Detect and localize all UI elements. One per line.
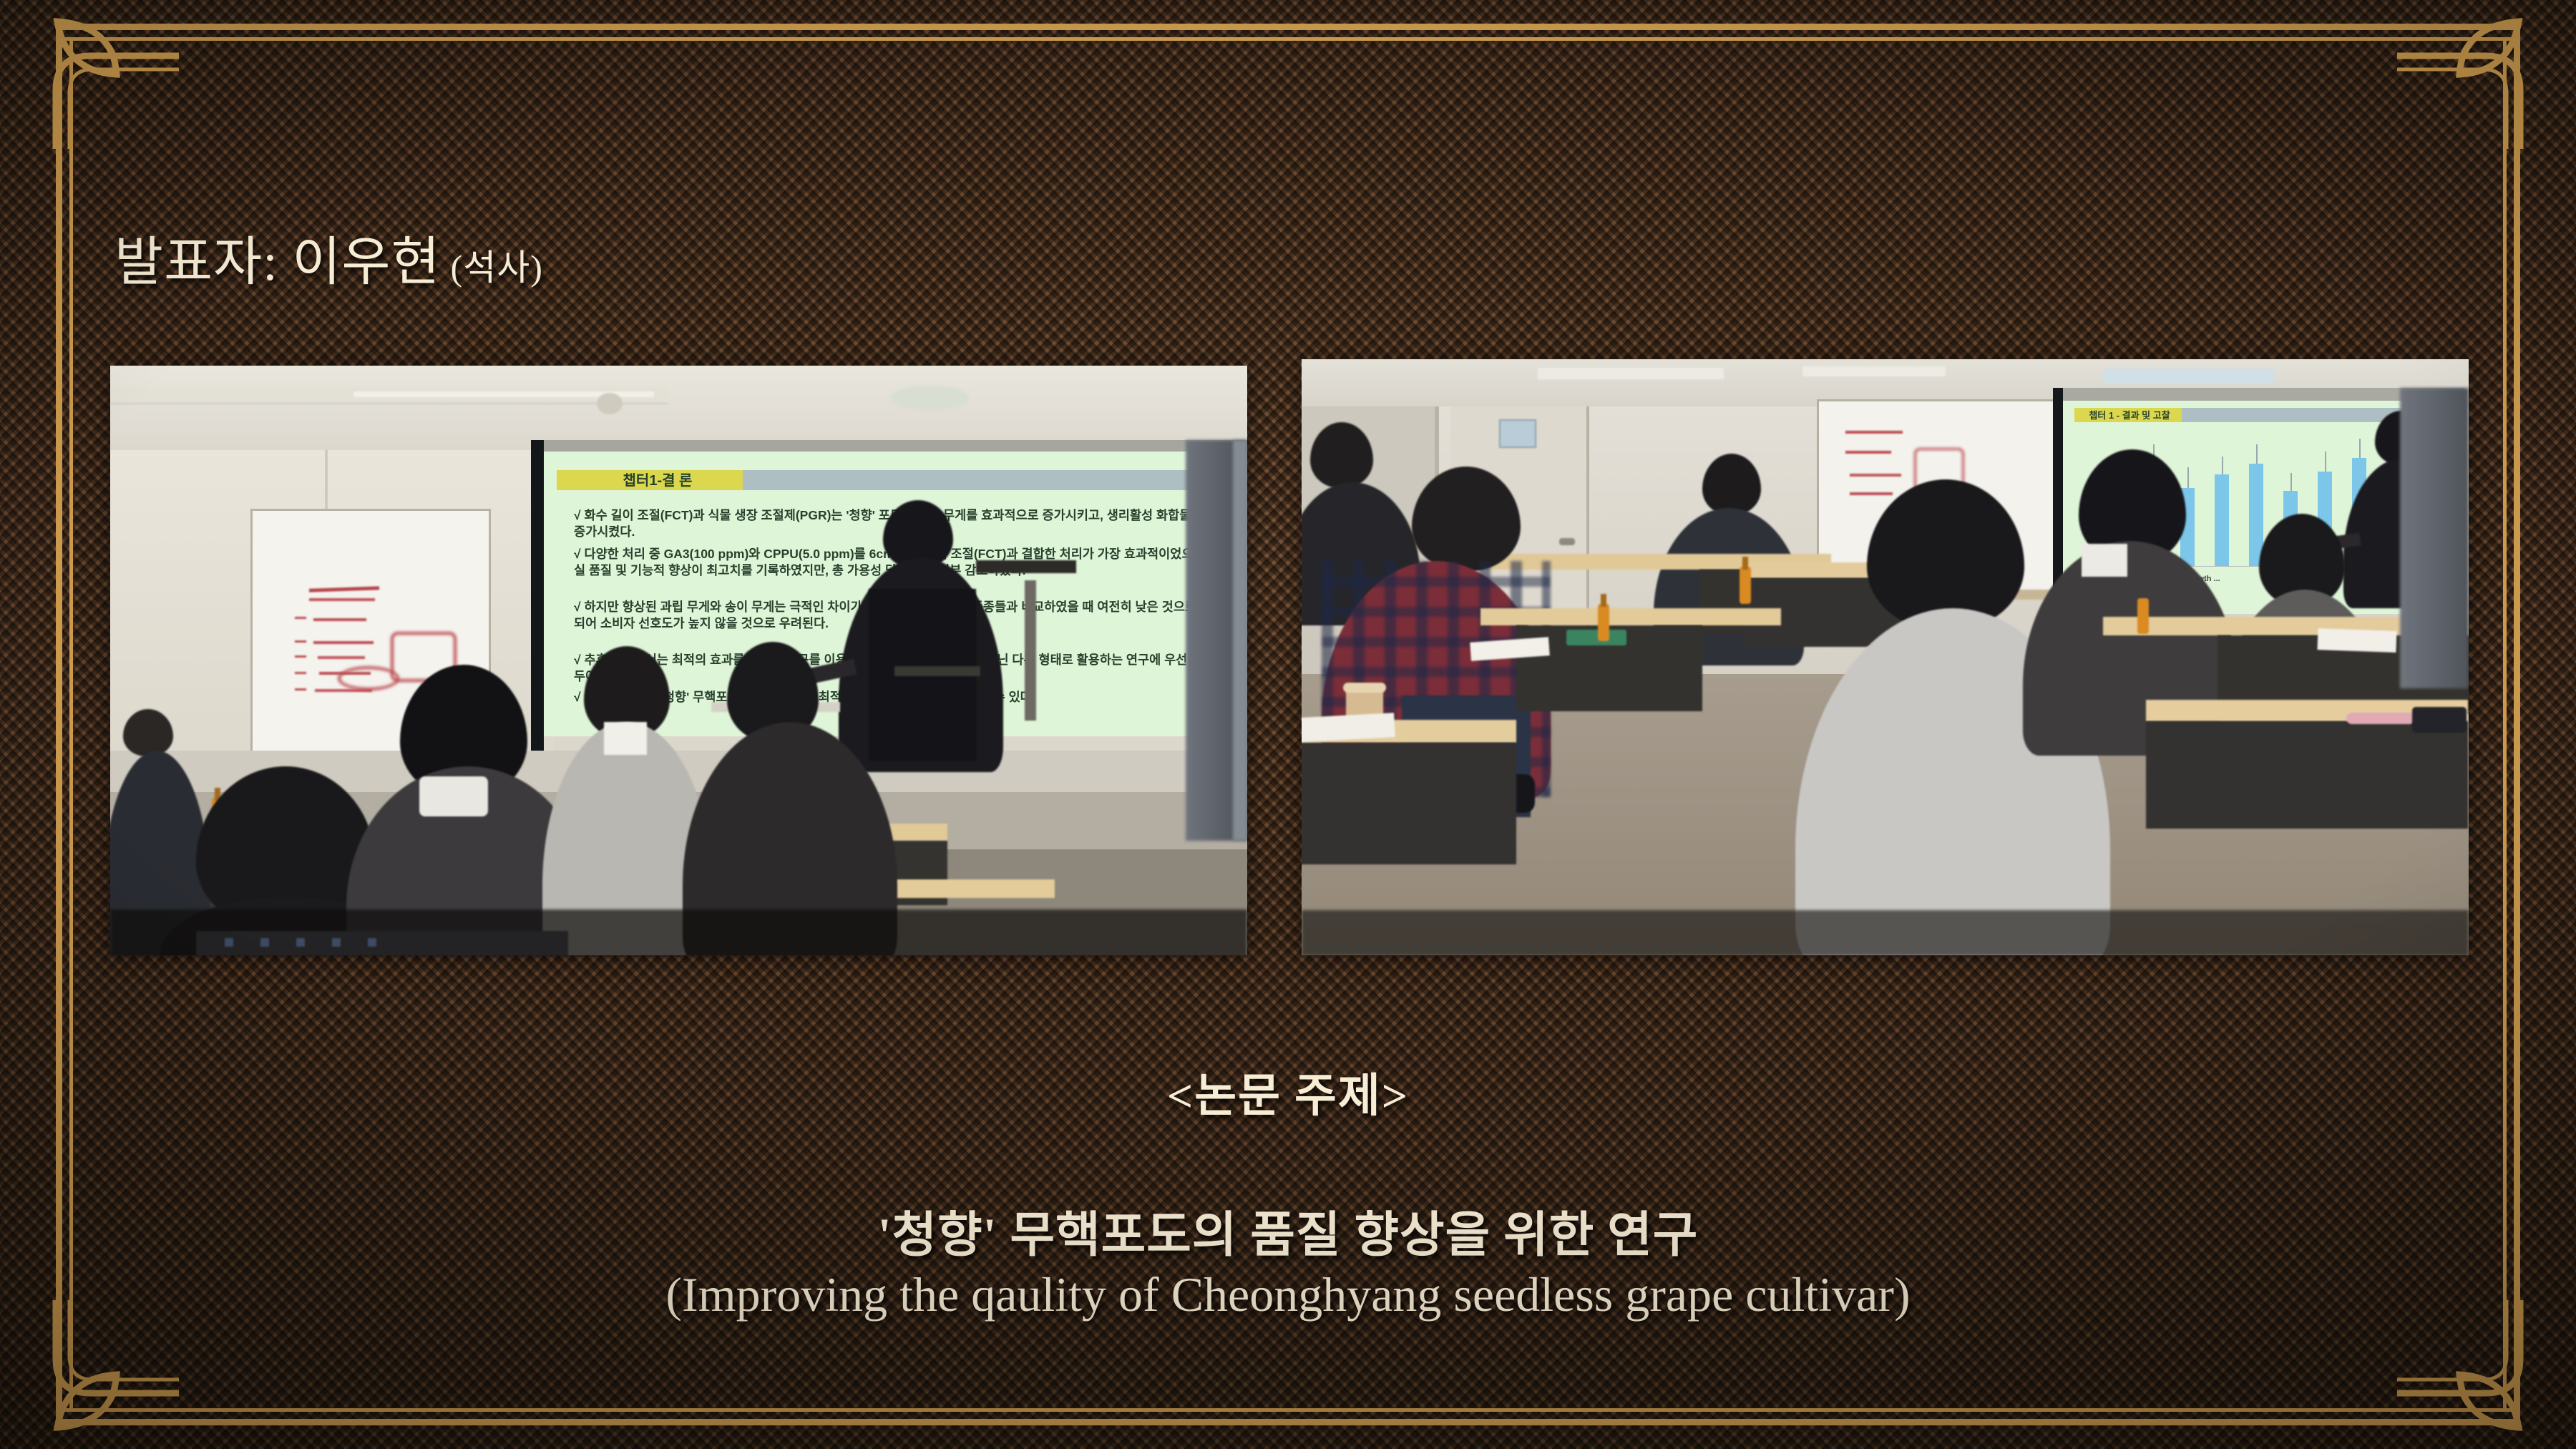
left-slide-header: 챕터1-결 론 <box>568 472 747 490</box>
chart-error-bar <box>2290 473 2292 491</box>
chart-bar <box>2215 474 2228 567</box>
presenter-degree: (석사) <box>451 248 543 288</box>
chart-error-bar <box>2359 439 2361 458</box>
corner-ornament-top-left <box>14 6 179 149</box>
frame-line-top-inner <box>56 37 2520 41</box>
frame-line-bottom-inner <box>56 1408 2520 1412</box>
corner-ornament-top-right <box>2397 6 2562 149</box>
frame-line-bottom-outer <box>56 1419 2520 1425</box>
photo-right-seminar-room: 챕터 1 - 결과 및 고찰 Figure 1.3. Effects of ..… <box>1302 359 2469 955</box>
subject-tag: <논문 주제> <box>0 1059 2576 1125</box>
chart-error-bar <box>2256 444 2258 464</box>
photo-left-presenter-at-screen: 챕터1-결 론 √ 화수 길이 조절(FCT)과 식물 생장 조절제(PGR)는… <box>110 366 1247 955</box>
chart-error-bar <box>2187 467 2189 488</box>
thesis-title-english: (Improving the qaulity of Cheonghyang se… <box>0 1267 2576 1323</box>
slide-canvas: 발표자: 이우현(석사) 챕터1 <box>0 0 2576 1449</box>
right-slide-header: 챕터 1 - 결과 및 고찰 <box>2079 409 2180 421</box>
presenter-line: 발표자: 이우현(석사) <box>114 236 543 289</box>
presenter-name: 발표자: 이우현 <box>114 233 441 292</box>
chart-error-bar <box>2222 457 2223 474</box>
chart-error-bar <box>2325 452 2326 472</box>
thesis-title-korean: '청향' 무핵포도의 품질 향상을 위한 연구 <box>0 1195 2576 1266</box>
frame-line-top-outer <box>56 24 2520 30</box>
